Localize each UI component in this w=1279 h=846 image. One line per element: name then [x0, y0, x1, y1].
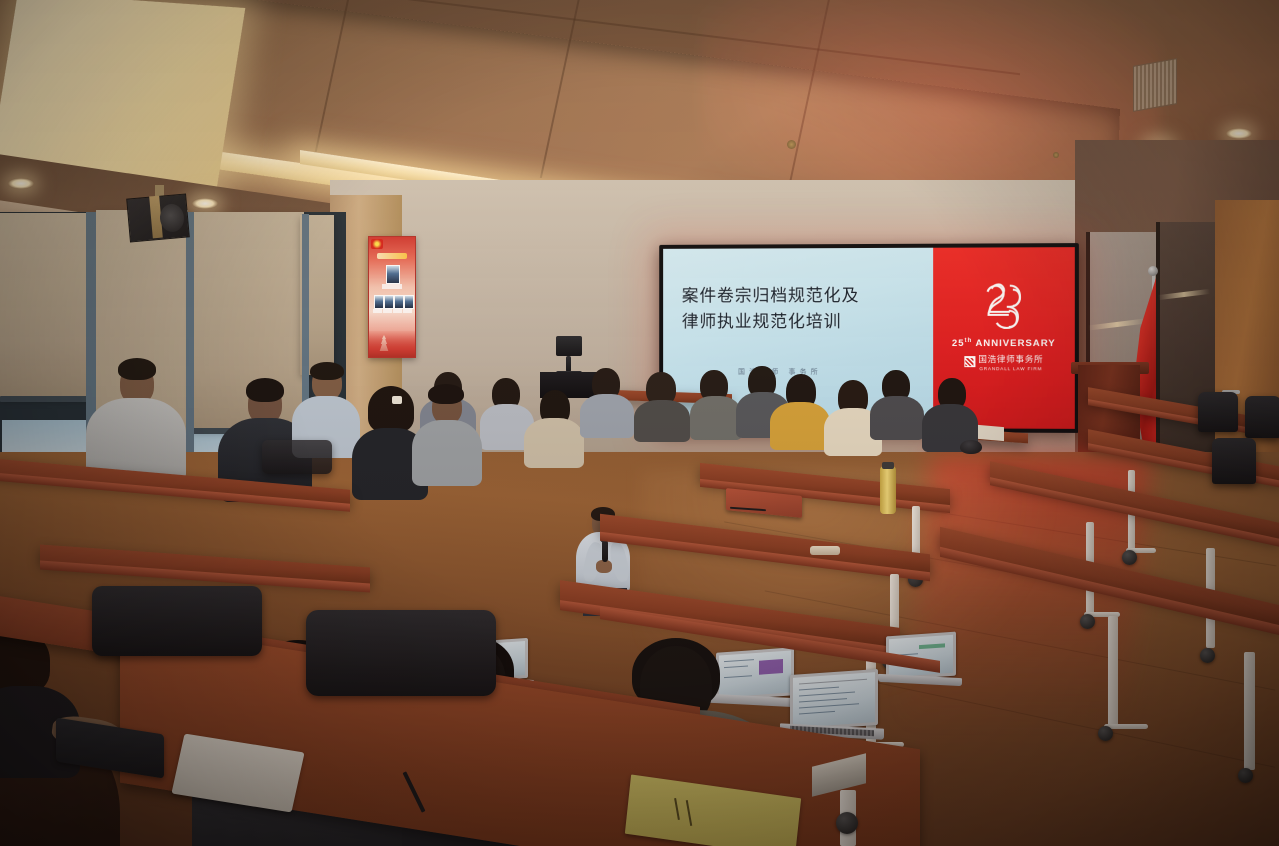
monitor-display — [556, 336, 582, 356]
chair — [1198, 392, 1238, 432]
attendee-hair — [368, 386, 414, 432]
table-caster — [1098, 726, 1113, 741]
poster-headline — [377, 253, 407, 259]
anniversary-25-mark-icon — [975, 278, 1032, 332]
attendee-torso — [634, 400, 690, 442]
attendee-torso — [690, 396, 742, 440]
chair — [306, 610, 496, 696]
handheld-microphone[interactable] — [602, 540, 608, 562]
table-caster — [836, 812, 858, 834]
paper-sheet — [978, 425, 1004, 441]
beverage-bottle — [880, 466, 896, 514]
poster-portrait — [394, 295, 404, 309]
window-blind[interactable] — [0, 213, 90, 398]
party-emblem-icon — [371, 239, 383, 249]
attendee-torso — [770, 402, 830, 450]
bottle-cap — [882, 462, 894, 469]
poster-footer — [369, 331, 415, 357]
anniversary-logo: 25th ANNIVERSARY 国浩律师事务所 GRANDALL LAW FI… — [933, 278, 1075, 371]
slide-title: 案件卷宗归档规范化及 律师执业规范化培训 — [682, 284, 914, 336]
photo-scene: 案件卷宗归档规范化及 律师执业规范化培训 国浩律师 事务所 — [0, 0, 1279, 846]
attendee-torso — [524, 418, 584, 468]
downlight-icon — [1226, 128, 1252, 139]
firm-logo-row: 国浩律师事务所 GRANDALL LAW FIRM — [933, 353, 1075, 371]
chair — [92, 586, 262, 656]
poster-caption — [373, 309, 382, 313]
poster-portrait — [384, 295, 394, 309]
attendee-torso — [870, 396, 924, 440]
coffee-cup — [812, 554, 838, 600]
attendee-hair — [246, 378, 284, 402]
blind-bottom-bar — [0, 396, 92, 402]
sprinkler-icon — [787, 140, 796, 149]
wall-poster — [368, 236, 416, 358]
hair-clip — [392, 396, 402, 404]
hvac-vent — [1133, 58, 1177, 112]
laptop-screen — [719, 650, 791, 697]
table-caster — [1080, 614, 1095, 629]
poster-caption — [403, 309, 412, 313]
table-leg — [1244, 652, 1255, 770]
poster-caption — [383, 309, 392, 313]
slide-title-line-2: 律师执业规范化培训 — [682, 310, 914, 336]
attendee-hair — [428, 384, 464, 404]
downlight-icon — [8, 178, 34, 189]
chair — [262, 440, 332, 474]
table-caster — [1122, 550, 1137, 565]
attendee-torso — [580, 394, 634, 438]
table-caster — [1238, 768, 1253, 783]
monitor-stand-post — [566, 356, 571, 372]
anniversary-ordinal: th — [964, 338, 972, 344]
chair — [1212, 438, 1256, 484]
anniversary-number: 25 — [952, 338, 965, 349]
poster-portrait — [404, 295, 414, 309]
anniversary-text: 25th ANNIVERSARY — [933, 338, 1075, 349]
firm-name-cn: 国浩律师事务所 — [978, 353, 1043, 365]
firm-name-en: GRANDALL LAW FIRM — [978, 366, 1043, 371]
computer-mouse[interactable] — [960, 440, 982, 454]
downlight-icon — [192, 198, 218, 209]
table-leg — [1108, 616, 1118, 726]
poster-portrait — [386, 265, 400, 284]
sprinkler-icon — [1053, 152, 1059, 158]
slide-title-line-1: 案件卷宗归档规范化及 — [682, 284, 914, 310]
firm-seal-icon — [964, 356, 975, 367]
table-caster — [1200, 648, 1215, 663]
flag-finial — [1148, 266, 1158, 276]
attendee-torso — [412, 420, 482, 486]
chair — [1245, 396, 1279, 438]
poster-caption — [382, 284, 402, 289]
anniversary-word: ANNIVERSARY — [975, 338, 1055, 349]
poster-portrait — [374, 295, 384, 309]
poster-caption — [393, 309, 402, 313]
laptop-screen — [793, 672, 875, 728]
attendee-hair — [118, 358, 156, 380]
attendee-hair — [310, 362, 344, 380]
